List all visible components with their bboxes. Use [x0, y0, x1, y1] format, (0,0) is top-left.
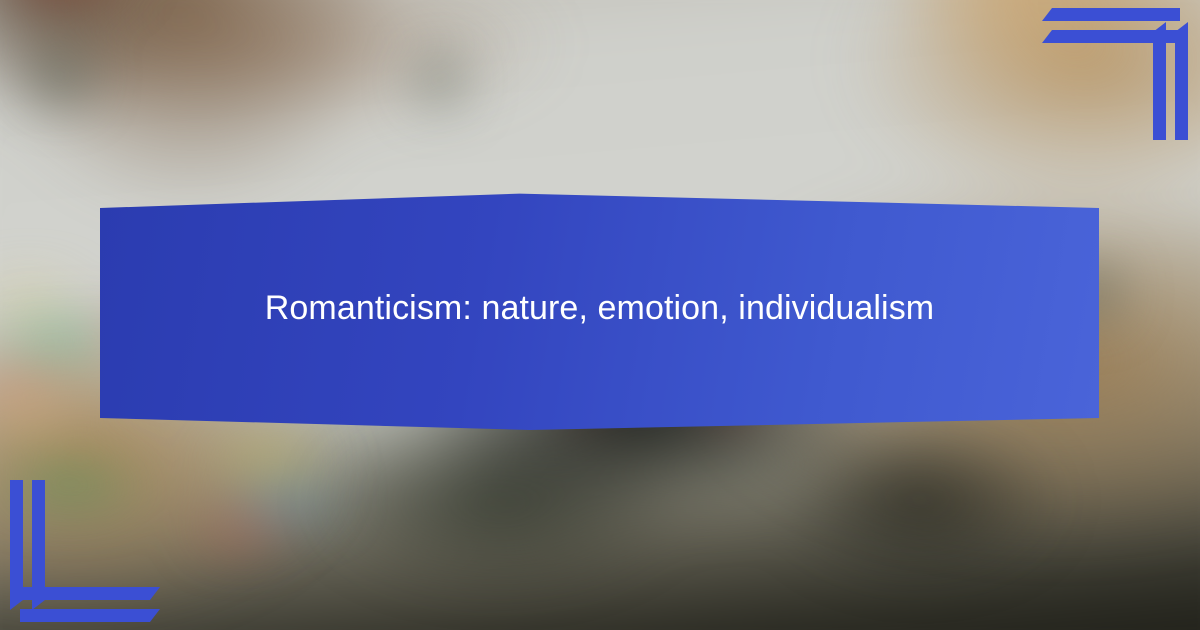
slide-canvas: Romanticism: nature, emotion, individual… — [0, 0, 1200, 630]
corner-bar-vertical-1 — [1153, 22, 1166, 140]
corner-bar-vertical-2 — [32, 480, 45, 610]
corner-bar-horizontal-1 — [1042, 8, 1180, 21]
bottom-left-corner-lines — [0, 480, 180, 630]
corner-bar-vertical-1 — [10, 480, 23, 610]
corner-bar-vertical-2 — [1175, 22, 1188, 140]
top-right-corner-lines — [1020, 0, 1200, 140]
page-title: Romanticism: nature, emotion, individual… — [225, 287, 974, 330]
corner-bar-horizontal-1 — [20, 609, 160, 622]
title-banner: Romanticism: nature, emotion, individual… — [100, 190, 1099, 430]
